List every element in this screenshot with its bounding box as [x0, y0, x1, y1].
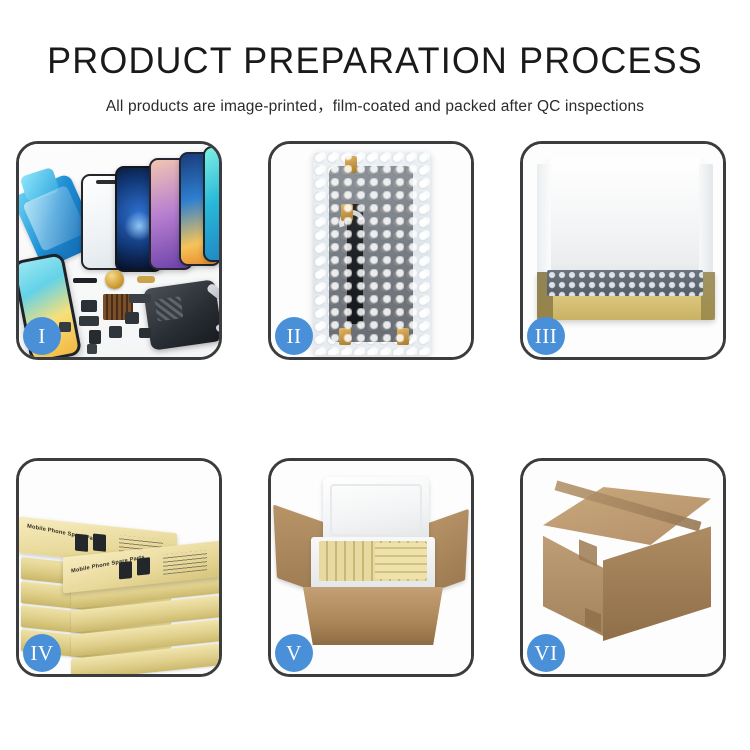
gold-connector-tab — [397, 328, 409, 345]
label-phone-thumbnail — [75, 534, 88, 552]
spare-part — [125, 312, 139, 324]
process-step-4[interactable]: Mobile Phone Spare Parts Mobile Phone Sp… — [16, 458, 222, 677]
label-phone-thumbnail — [137, 557, 150, 575]
step-badge-2: II — [275, 317, 313, 355]
spare-part — [139, 328, 151, 338]
process-step-1[interactable]: I — [16, 141, 222, 360]
step-badge-4: IV — [23, 634, 61, 672]
box-label-text: Mobile Phone Spare Parts — [71, 555, 145, 575]
process-step-6[interactable]: VI — [520, 458, 726, 677]
step-badge-5: V — [275, 634, 313, 672]
spare-part — [129, 294, 151, 303]
spare-part — [137, 276, 155, 283]
bubble-wrap-bag — [313, 152, 431, 355]
step-badge-1: I — [23, 317, 61, 355]
vibration-motor-part — [105, 270, 124, 289]
gold-connector-tab — [339, 328, 351, 345]
foam-cooler-lid — [323, 477, 429, 543]
step-badge-3: III — [527, 317, 565, 355]
wrapped-screen-assembly — [329, 166, 413, 342]
spare-part — [87, 344, 97, 354]
page-subtitle: All products are image-printed，film-coat… — [0, 94, 750, 116]
packed-inner-boxes-row2 — [375, 543, 427, 579]
spare-part — [89, 330, 101, 344]
box-white-lid — [545, 158, 705, 280]
bubble-wrap-padding — [547, 270, 703, 296]
process-step-5[interactable]: V — [268, 458, 474, 677]
box-label-text: Mobile Phone Spare Parts — [27, 523, 101, 543]
gold-connector-tab — [341, 204, 353, 221]
page-title: PRODUCT PREPARATION PROCESS — [11, 42, 739, 79]
spare-part — [81, 300, 97, 312]
label-phone-thumbnail — [119, 561, 132, 579]
carton-body — [303, 587, 443, 645]
label-phone-thumbnail — [93, 533, 106, 551]
step-badge-6: VI — [527, 634, 565, 672]
phone-display-teal — [203, 146, 219, 262]
process-step-grid: I II — [16, 141, 736, 677]
process-step-2[interactable]: II — [268, 141, 474, 360]
page-header: PRODUCT PREPARATION PROCESS All products… — [0, 0, 750, 116]
label-spec-lines — [163, 550, 207, 575]
spare-part — [73, 278, 97, 283]
spare-part — [109, 326, 122, 338]
gold-connector-tab — [345, 156, 357, 173]
spare-part — [79, 316, 99, 326]
spare-part — [59, 322, 71, 332]
process-step-3[interactable]: III — [520, 141, 726, 360]
